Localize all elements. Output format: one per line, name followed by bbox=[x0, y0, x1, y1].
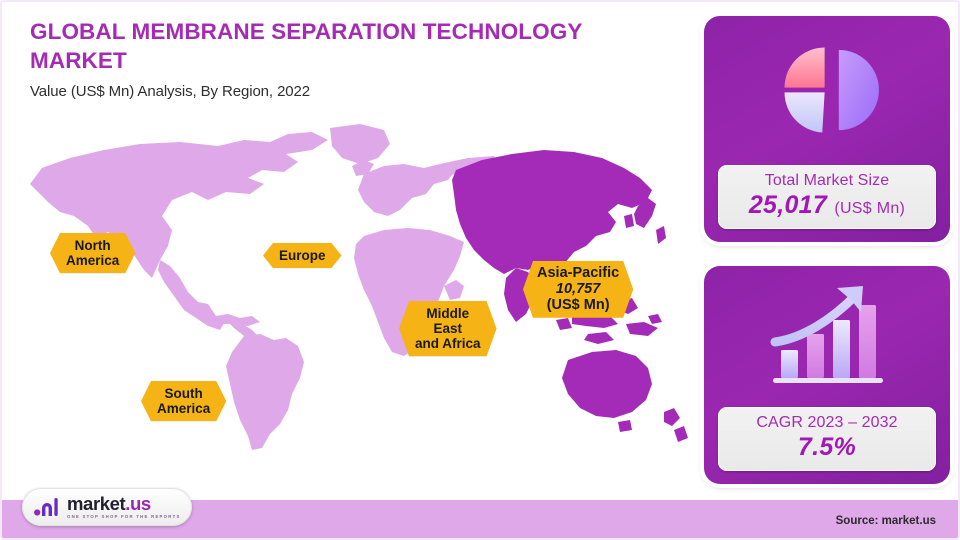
card-value: 25,017 (US$ Mn) bbox=[722, 191, 932, 220]
badge-line-3: and Africa bbox=[415, 336, 481, 351]
pie-chart-icon bbox=[704, 16, 950, 164]
map-badge-south-america[interactable]: South America bbox=[141, 381, 226, 421]
map-badge-north-america[interactable]: North America bbox=[50, 233, 135, 273]
badge-line-2: America bbox=[157, 401, 210, 416]
card-unit: (US$ Mn) bbox=[834, 200, 905, 217]
stat-card-cagr[interactable]: CAGR 2023 – 2032 7.5% bbox=[704, 266, 950, 484]
badge-line-1: Europe bbox=[279, 248, 326, 263]
growth-bar-chart-icon bbox=[704, 266, 950, 406]
logo-dot: .us bbox=[125, 493, 151, 514]
map-badge-asia-pacific[interactable]: Asia-Pacific 10,757 (US$ Mn) bbox=[523, 261, 633, 318]
badge-line-1: Asia-Pacific bbox=[537, 265, 619, 281]
logo-text: market.us ONE STOP SHOP FOR THE REPORTS bbox=[67, 495, 181, 520]
page-subtitle: Value (US$ Mn) Analysis, By Region, 2022 bbox=[30, 83, 680, 100]
header: GLOBAL MEMBRANE SEPARATION TECHNOLOGY MA… bbox=[30, 18, 680, 100]
stat-card-label-cagr: CAGR 2023 – 2032 7.5% bbox=[718, 407, 936, 471]
map-badge-europe[interactable]: Europe bbox=[263, 243, 342, 268]
badge-line-1: South bbox=[165, 386, 203, 401]
map-badge-middle-east-africa[interactable]: Middle East and Africa bbox=[399, 301, 497, 356]
badge-value: 10,757 bbox=[537, 281, 619, 297]
logo-tagline: ONE STOP SHOP FOR THE REPORTS bbox=[67, 515, 181, 519]
badge-unit: (US$ Mn) bbox=[547, 297, 610, 313]
badge-line-2: America bbox=[66, 253, 119, 268]
map-landmasses-other bbox=[30, 124, 498, 450]
market-us-logo[interactable]: market.us ONE STOP SHOP FOR THE REPORTS bbox=[22, 488, 192, 526]
badge-line-2: East bbox=[434, 321, 463, 336]
logo-name: market.us bbox=[67, 495, 181, 514]
page-title: GLOBAL MEMBRANE SEPARATION TECHNOLOGY MA… bbox=[30, 18, 680, 76]
source-text: Source: market.us bbox=[836, 515, 936, 527]
stat-card-total-market-size[interactable]: Total Market Size 25,017 (US$ Mn) bbox=[704, 16, 950, 242]
card-value: 7.5% bbox=[722, 433, 932, 462]
card-caption: CAGR 2023 – 2032 bbox=[722, 414, 932, 432]
bar-chart-logo-icon bbox=[34, 496, 60, 518]
growth-bar-chart-icon-svg bbox=[763, 280, 891, 392]
card-caption: Total Market Size bbox=[722, 172, 932, 190]
badge-line-1: North bbox=[75, 238, 111, 253]
stat-card-label-total-market-size: Total Market Size 25,017 (US$ Mn) bbox=[718, 165, 936, 229]
badge-line-1: Middle bbox=[426, 306, 469, 321]
infographic-canvas: GLOBAL MEMBRANE SEPARATION TECHNOLOGY MA… bbox=[0, 0, 960, 540]
pie-chart-icon-svg bbox=[768, 31, 886, 149]
